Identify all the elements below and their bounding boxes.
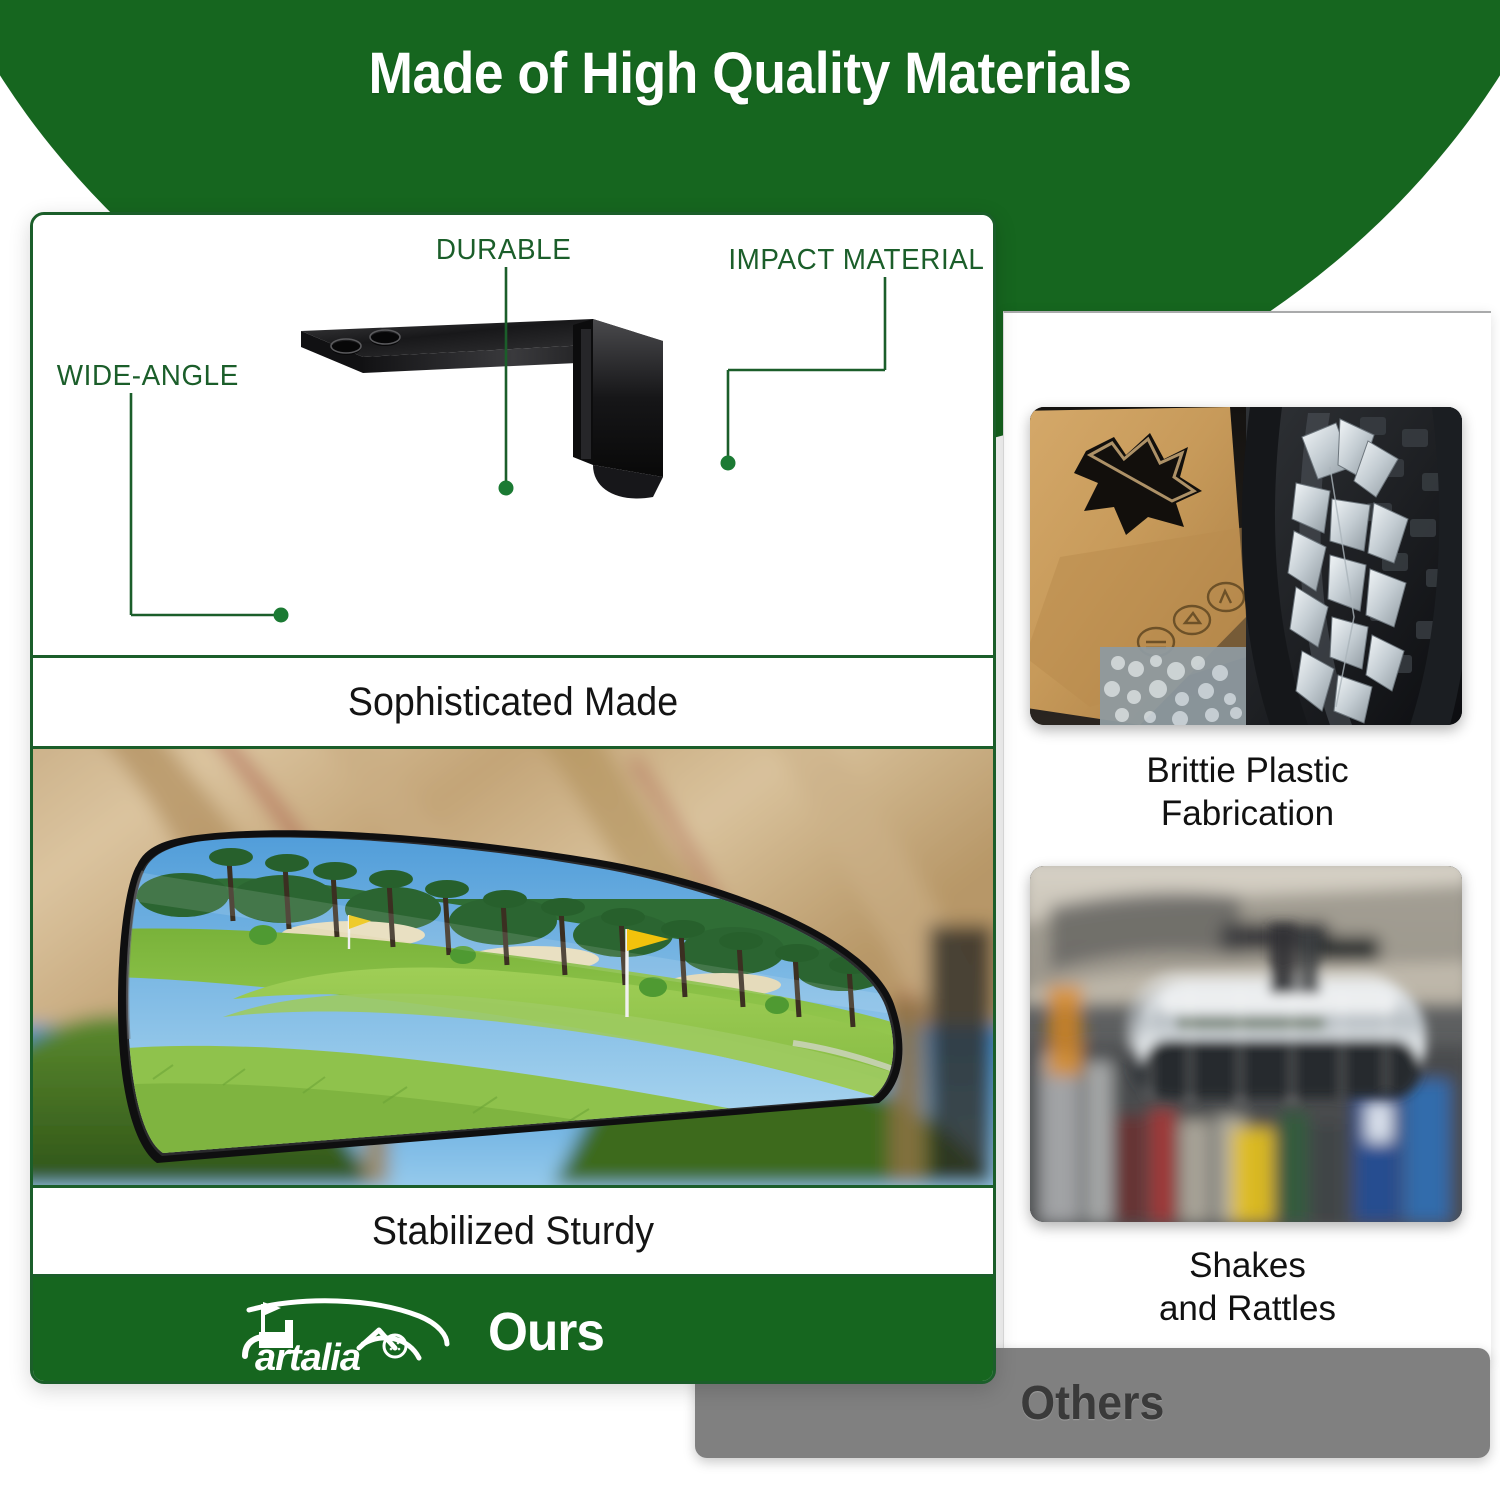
others-column: Brittie Plastic Fabrication bbox=[1003, 311, 1491, 1360]
bracket-diagram: WIDE-ANGLE DURABLE IMPACT MATERIAL bbox=[33, 215, 993, 655]
golf-cart-logo-icon: artalia bbox=[233, 1286, 463, 1378]
svg-text:artalia: artalia bbox=[255, 1337, 361, 1378]
callout-label-wide-angle: WIDE-ANGLE bbox=[57, 360, 239, 393]
sophisticated-made-caption: Sophisticated Made bbox=[62, 658, 964, 746]
ours-panel: WIDE-ANGLE DURABLE IMPACT MATERIAL Sophi… bbox=[30, 212, 996, 1384]
others-label: Others bbox=[1021, 1376, 1165, 1431]
golf-cart-mirror-illustration bbox=[33, 749, 993, 1185]
callout-dot-impact-material bbox=[721, 456, 736, 471]
others-card-rattles: Shakes and Rattles bbox=[1004, 866, 1491, 1346]
others-card-brittle: Brittie Plastic Fabrication bbox=[1004, 313, 1491, 833]
shakes-rattles-photo bbox=[1030, 866, 1462, 1222]
brittle-plastic-caption: Brittie Plastic Fabrication bbox=[1004, 749, 1491, 835]
callout-label-durable: DURABLE bbox=[436, 234, 572, 267]
infographic-root: Made of High Quality Materials bbox=[0, 0, 1500, 1500]
callout-label-impact-material: IMPACT MATERIAL bbox=[728, 244, 984, 277]
brittle-plastic-photo bbox=[1030, 407, 1462, 725]
blurry-rattling-mirror-illustration bbox=[1030, 866, 1462, 1222]
shakes-rattles-caption: Shakes and Rattles bbox=[1004, 1244, 1491, 1330]
stabilized-mirror-photo bbox=[33, 749, 993, 1185]
ours-label: Ours bbox=[488, 1301, 604, 1363]
ours-footer: artalia Ours bbox=[33, 1277, 993, 1384]
callout-dot-durable bbox=[499, 481, 514, 496]
caption-text: Sophisticated Made bbox=[348, 680, 678, 725]
callout-leader-lines bbox=[33, 215, 993, 655]
page-title: Made of High Quality Materials bbox=[0, 40, 1500, 107]
callout-dot-wide-angle bbox=[274, 608, 289, 623]
broken-plastic-illustration bbox=[1030, 407, 1462, 725]
stabilized-sturdy-caption: Stabilized Sturdy bbox=[62, 1188, 964, 1274]
caption-text: Stabilized Sturdy bbox=[372, 1209, 654, 1254]
